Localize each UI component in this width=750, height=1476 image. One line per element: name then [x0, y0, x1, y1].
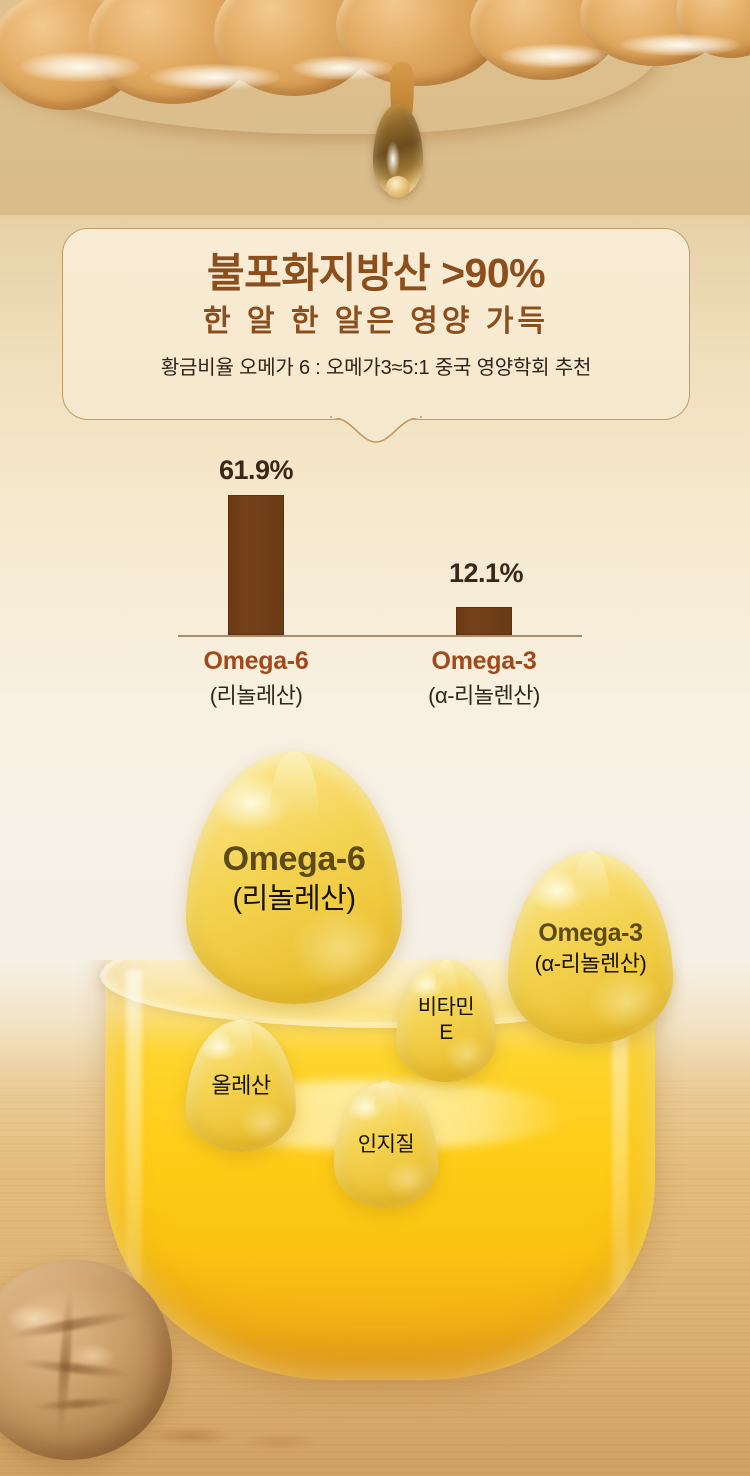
droplet-phospholipid-label: 인지질 — [358, 1133, 414, 1158]
droplet-omega3-title: Omega-3 — [538, 919, 642, 949]
honey-highlight — [20, 52, 140, 82]
honey-drip-tip — [386, 176, 410, 198]
bowl-glass-highlight-left — [126, 970, 142, 1300]
walnut-crease — [18, 1358, 134, 1379]
fatty-acid-bar-chart: 61.9% 12.1% Omega-6 (리놀레산) Omega-3 (α-리놀… — [150, 455, 610, 720]
honey-highlight — [500, 44, 610, 68]
bar-value-label-omega3: 12.1% — [376, 558, 596, 589]
droplet-oleic-acid-label: 올레산 — [211, 1073, 270, 1099]
product-detail-page: 불포화지방산 >90% 한 알 한 알은 영양 가득 황금비율 오메가 6 : … — [0, 0, 750, 1476]
chart-category-omega6-sublabel: (리놀레산) — [146, 678, 366, 710]
hero-photo-walnut-honey-drip — [0, 0, 750, 215]
product-photo-oil-bowl — [0, 960, 750, 1476]
walnut-shell-fragments — [130, 1406, 340, 1466]
bar-omega3 — [456, 607, 512, 635]
chart-category-omega3: Omega-3 (α-리놀렌산) — [374, 647, 594, 710]
page-title: 불포화지방산 >90% — [63, 229, 689, 297]
droplet-omega6: Omega-6 (리놀레산) — [186, 752, 402, 1004]
droplet-omega6-subtitle: (리놀레산) — [232, 882, 355, 916]
chart-baseline-axis — [178, 635, 582, 637]
bar-value-label-omega6: 61.9% — [146, 455, 366, 486]
honey-highlight — [150, 64, 280, 90]
honey-highlight — [620, 34, 740, 56]
page-subtitle: 한 알 한 알은 영양 가득 — [63, 297, 689, 340]
chart-category-omega3-name: Omega-3 — [374, 647, 594, 676]
headline-callout-box: 불포화지방산 >90% 한 알 한 알은 영양 가득 황금비율 오메가 6 : … — [62, 228, 690, 420]
droplet-omega3-subtitle: (α-리놀렌산) — [535, 951, 647, 977]
chart-category-omega6: Omega-6 (리놀레산) — [146, 647, 366, 710]
droplet-vitamin-e-label: 비타민 — [418, 996, 474, 1021]
droplet-omega3: Omega-3 (α-리놀렌산) — [508, 852, 673, 1044]
callout-tail — [330, 416, 422, 450]
honey-highlight — [292, 56, 392, 80]
chart-category-omega6-name: Omega-6 — [146, 647, 366, 676]
chart-category-omega3-sublabel: (α-리놀렌산) — [374, 678, 594, 710]
bar-omega6 — [228, 495, 284, 635]
droplet-omega6-title: Omega-6 — [223, 839, 366, 879]
walnut-crease — [30, 1397, 126, 1412]
droplet-vitamin-e-letter: E — [439, 1021, 453, 1046]
ratio-note: 황금비율 오메가 6 : 오메가3≈5:1 중국 영양학회 추천 — [63, 339, 689, 380]
